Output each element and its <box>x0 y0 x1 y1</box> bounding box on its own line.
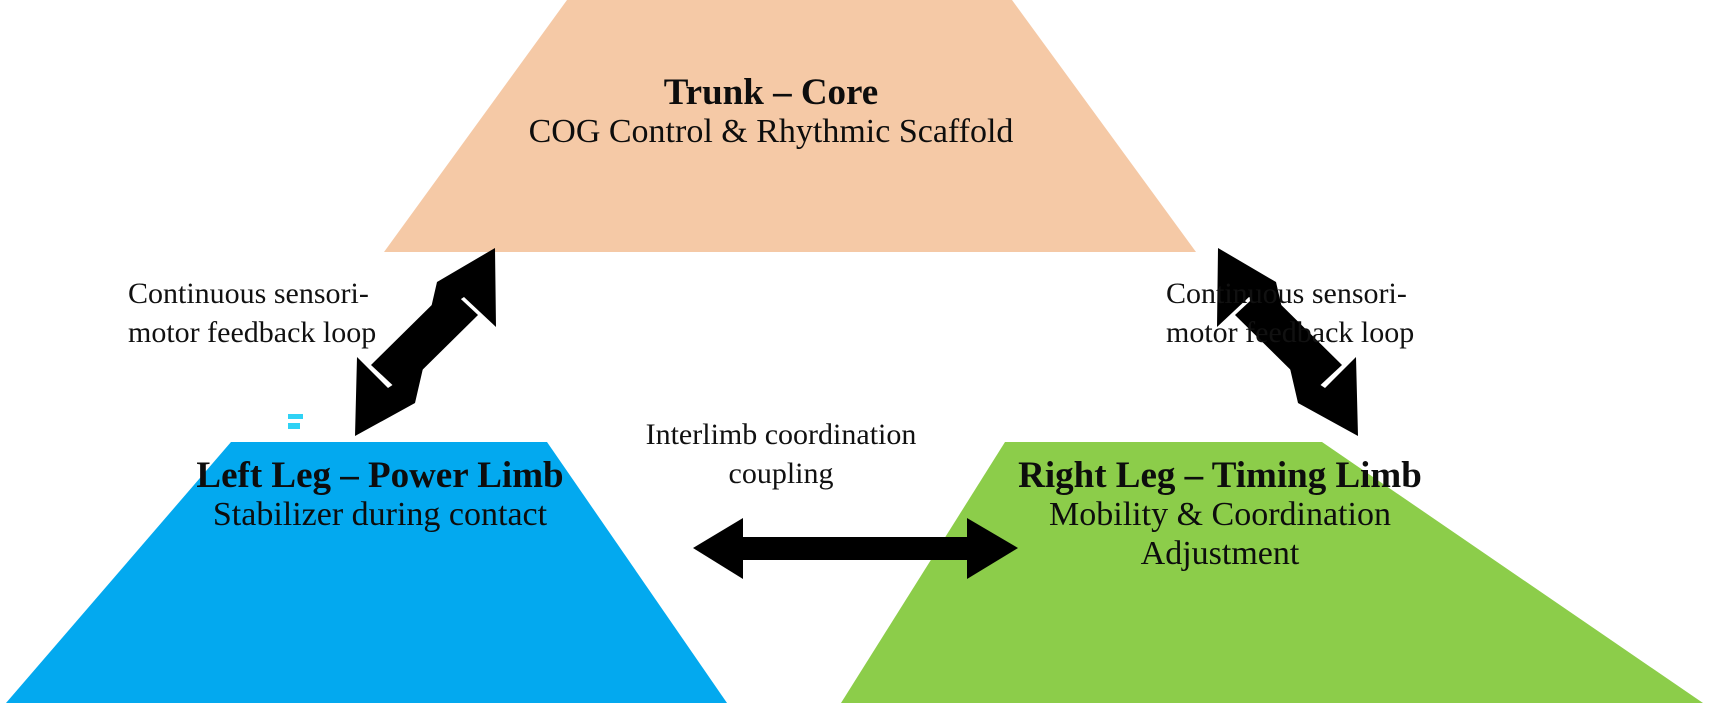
trunk-core-title: Trunk – Core <box>506 72 1036 113</box>
right-leg-subtitle-line1: Mobility & Coordination <box>930 496 1510 534</box>
interlimb-label-line2: coupling <box>636 454 926 493</box>
interlimb-coupling-label: Interlimb coordination coupling <box>636 415 926 493</box>
diagram-canvas: Trunk – Core COG Control & Rhythmic Scaf… <box>0 0 1712 703</box>
right-feedback-arrow-label: Continuous sensori- motor feedback loop <box>1166 274 1456 352</box>
interlimb-label-line1: Interlimb coordination <box>636 415 926 454</box>
left-leg-title: Left Leg – Power Limb <box>100 455 660 496</box>
left-leg-subtitle: Stabilizer during contact <box>100 496 660 534</box>
left-feedback-label-line2: motor feedback loop <box>128 313 416 352</box>
trunk-core-subtitle: COG Control & Rhythmic Scaffold <box>506 113 1036 151</box>
right-feedback-label-line2: motor feedback loop <box>1166 313 1456 352</box>
stray-cyan-mark <box>288 414 303 429</box>
right-leg-title: Right Leg – Timing Limb <box>930 455 1510 496</box>
right-leg-label: Right Leg – Timing Limb Mobility & Coord… <box>930 455 1510 573</box>
right-leg-subtitle-line2: Adjustment <box>930 535 1510 573</box>
left-feedback-label-line1: Continuous sensori- <box>128 274 416 313</box>
trunk-core-label: Trunk – Core COG Control & Rhythmic Scaf… <box>506 72 1036 152</box>
left-feedback-arrow-label: Continuous sensori- motor feedback loop <box>128 274 416 352</box>
left-leg-label: Left Leg – Power Limb Stabilizer during … <box>100 455 660 535</box>
right-feedback-label-line1: Continuous sensori- <box>1166 274 1456 313</box>
